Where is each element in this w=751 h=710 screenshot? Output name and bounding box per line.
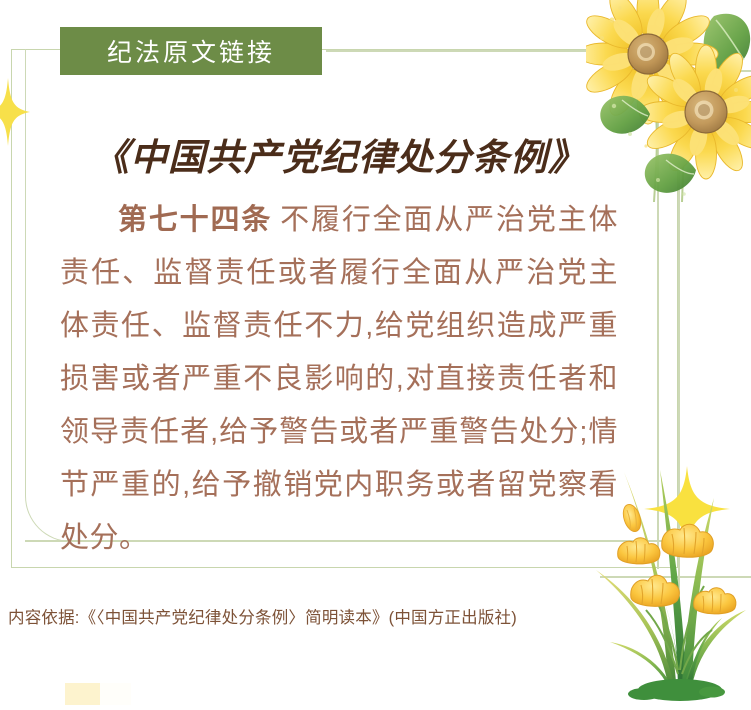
color-swatch-offwhite [100, 683, 131, 705]
frame-vertical-line-a [657, 0, 659, 569]
page-title: 《中国共产党纪律处分条例》 [60, 136, 618, 180]
frame-vertical-line-b [678, 0, 680, 700]
content-block: 《中国共产党纪律处分条例》 第七十四条不履行全面从严治党主体责任、监督责任或者履… [60, 136, 618, 565]
frame-horizontal-line-upper-right [600, 70, 751, 72]
frame-horizontal-line-lower-right [600, 576, 751, 578]
poster-canvas: 纪法原文链接 《中国共产党纪律处分条例》 第七十四条不履行全面从严治党主体责任、… [0, 0, 751, 710]
article-body-text: 不履行全面从严治党主体责任、监督责任或者履行全面从严治党主体责任、监督责任不力,… [60, 204, 618, 554]
banner-rule-line [326, 50, 611, 52]
banner-label: 纪法原文链接 [107, 33, 275, 69]
article-body: 第七十四条不履行全面从严治党主体责任、监督责任或者履行全面从严治党主体责任、监督… [60, 194, 618, 565]
banner-header: 纪法原文链接 [60, 27, 322, 75]
color-swatch-cream [65, 683, 100, 705]
sparkle-icon [0, 78, 30, 146]
source-note: 内容依据:《〈中国共产党纪律处分条例〉简明读本》(中国方正出版社) [8, 604, 517, 628]
article-number: 第七十四条 [118, 204, 272, 236]
